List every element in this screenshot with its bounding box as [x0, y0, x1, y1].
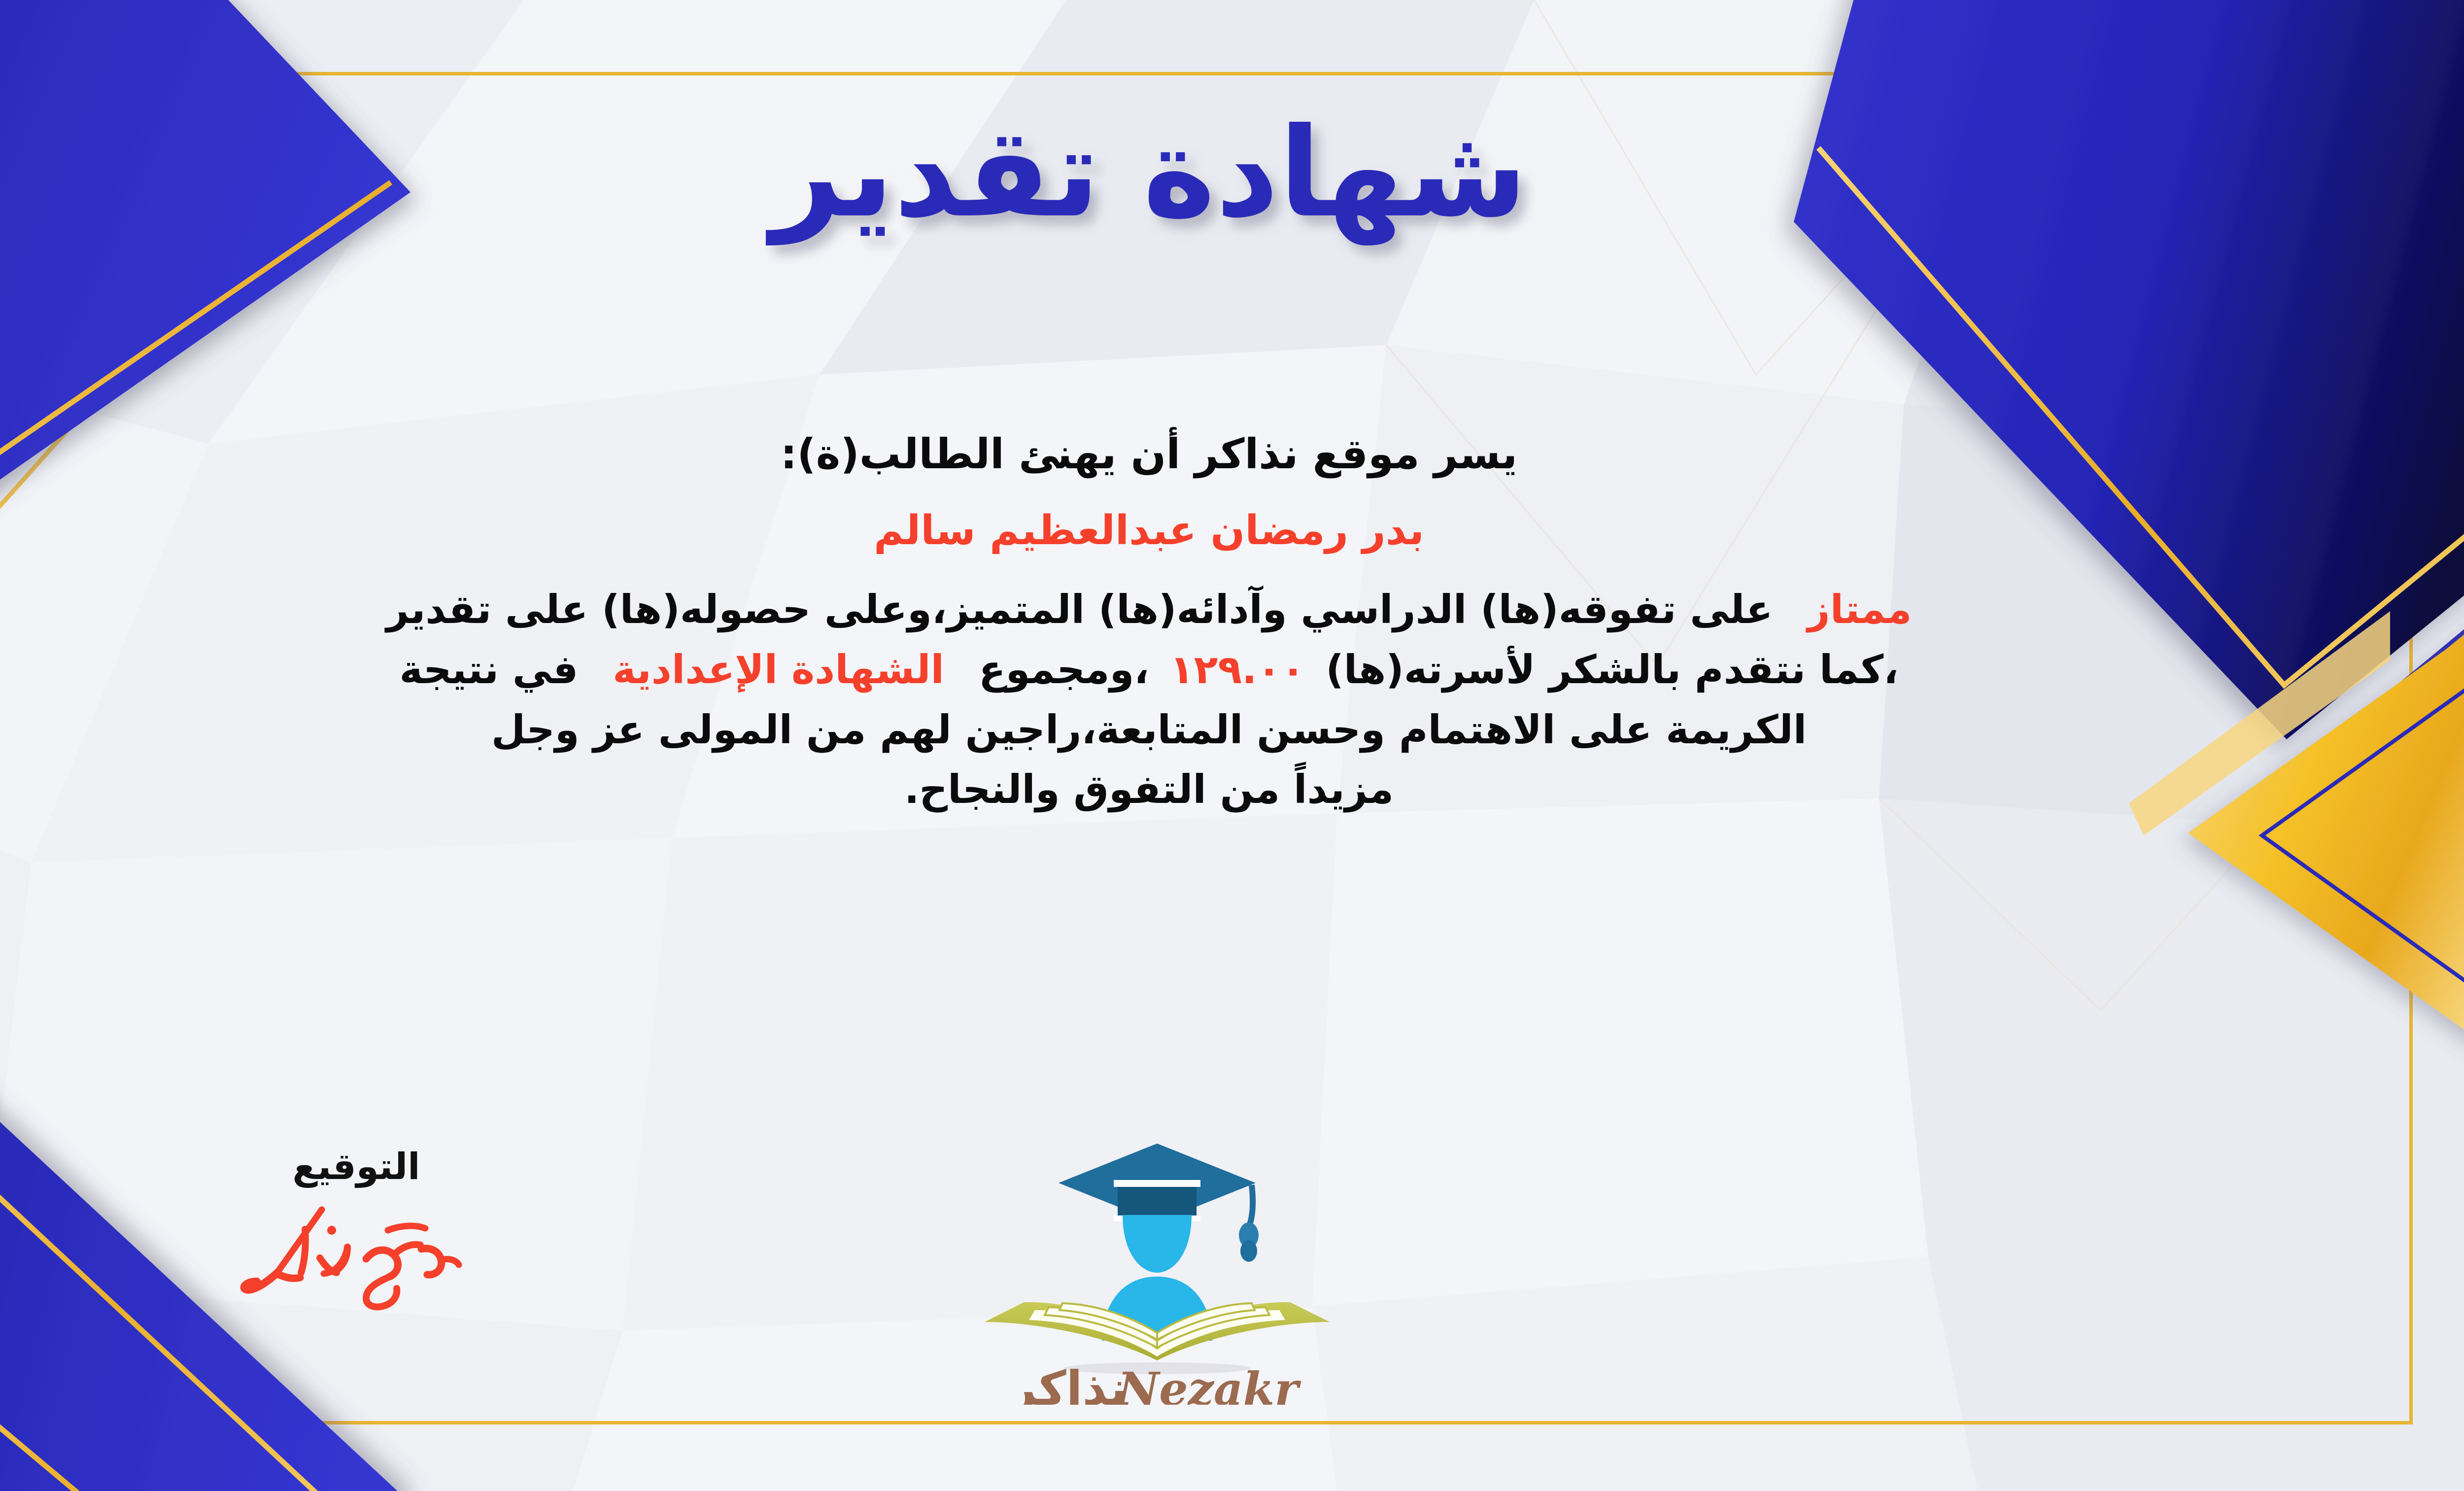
citation-paragraph: ممتازعلى تفوقه(ها) الدراسي وآدائه(ها) ال… — [0, 580, 2336, 819]
citation-line-2-mid: ،ومجموع — [979, 647, 1149, 693]
signature-block: التوقيع — [199, 1148, 514, 1320]
nezakr-logo-icon: Nezakr نذاكر — [955, 1129, 1359, 1405]
certificate-footer: التوقيع — [0, 1148, 2464, 1444]
handwritten-signature-icon — [218, 1200, 494, 1318]
title-text: شهادة تقدير — [765, 101, 1527, 246]
grade-value: ممتاز — [1808, 587, 1912, 632]
total-score-value: ١٢٩.٠٠ — [1170, 647, 1305, 693]
title-calligraphy: شهادة تقدير — [730, 86, 1568, 264]
student-name: بدر رمضان عبدالعظيم سالم — [0, 501, 2336, 560]
citation-line-2-tail: ،كما نتقدم بالشكر لأسرته(ها) — [1326, 647, 1898, 693]
certificate-body: يسر موقع نذاكر أن يهنئ الطالب(ة): بدر رم… — [0, 424, 2336, 820]
citation-row-4: مزيداً من التفوق والنجاح. — [0, 760, 2336, 820]
logo-wordmark-latin: Nezakr — [1116, 1362, 1301, 1405]
signature-mark — [199, 1200, 514, 1320]
brand-logo: Nezakr نذاكر — [945, 1129, 1369, 1407]
logo-wordmark-arabic: نذاكر — [1007, 1361, 1128, 1405]
citation-line-2-head: في نتيجة — [400, 647, 579, 693]
exam-name-value: الشهادة الإعدادية — [613, 647, 944, 693]
citation-line-1: على تفوقه(ها) الدراسي وآدائه(ها) المتميز… — [386, 587, 1773, 632]
greeting-line: يسر موقع نذاكر أن يهنئ الطالب(ة): — [0, 424, 2336, 485]
certificate-page: شهادة تقدير يسر موقع نذاكر أن يهنئ الطال… — [0, 0, 2464, 1491]
citation-row-3: الكريمة على الاهتمام وحسن المتابعة،راجين… — [0, 700, 2336, 760]
certificate-title: شهادة تقدير — [0, 86, 2464, 266]
citation-row-2: ،كما نتقدم بالشكر لأسرته(ها)١٢٩.٠٠،ومجمو… — [0, 640, 2336, 700]
citation-row-1: ممتازعلى تفوقه(ها) الدراسي وآدائه(ها) ال… — [0, 580, 2336, 640]
signature-label: التوقيع — [199, 1148, 514, 1185]
